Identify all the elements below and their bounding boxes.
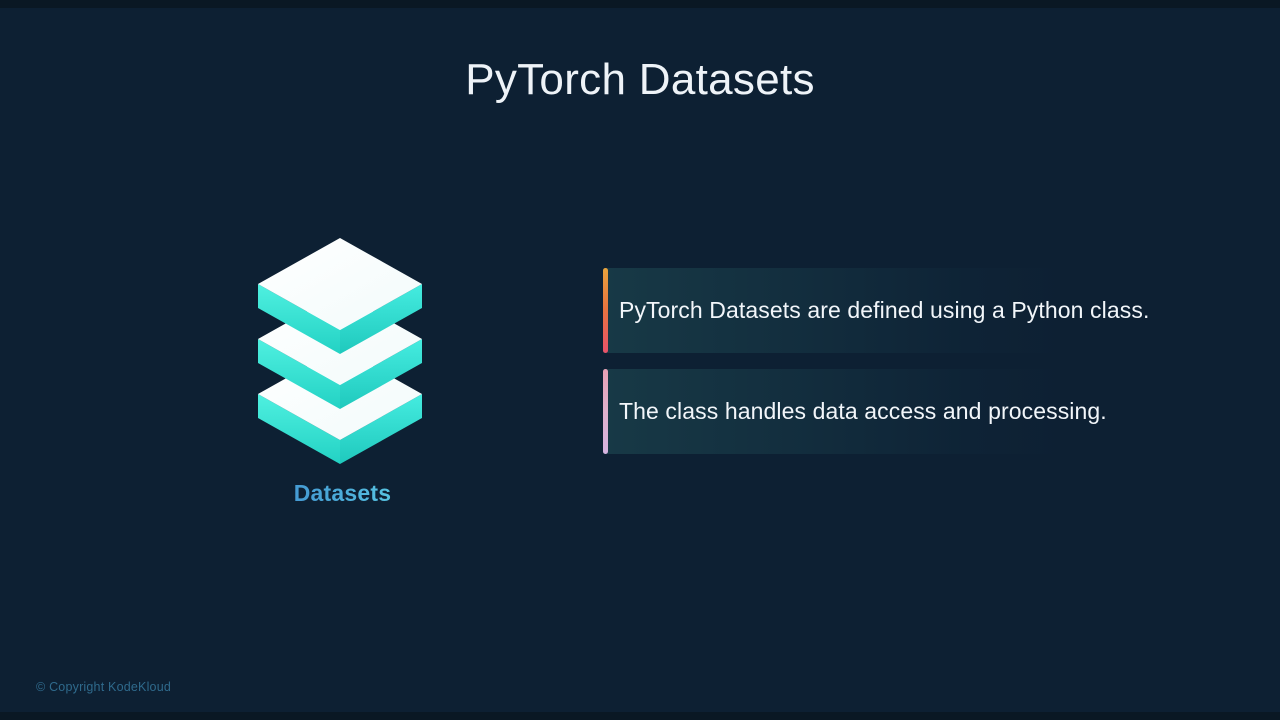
bottom-edge-band (0, 712, 1280, 720)
bullet-card: PyTorch Datasets are defined using a Pyt… (603, 268, 1063, 353)
bullet-text: The class handles data access and proces… (619, 398, 1107, 425)
stacked-layers-icon (240, 232, 460, 472)
datasets-graphic: Datasets (240, 232, 460, 522)
graphic-label: Datasets (240, 480, 445, 507)
slide-root: PyTorch Datasets (0, 0, 1280, 720)
copyright-footer: © Copyright KodeKloud (36, 680, 171, 694)
accent-bar-icon (603, 268, 608, 353)
bullet-card: The class handles data access and proces… (603, 369, 1063, 454)
bullet-card-list: PyTorch Datasets are defined using a Pyt… (603, 268, 1063, 454)
accent-bar-icon (603, 369, 608, 454)
top-edge-band (0, 0, 1280, 8)
bullet-text: PyTorch Datasets are defined using a Pyt… (619, 297, 1149, 324)
page-title: PyTorch Datasets (0, 55, 1280, 105)
